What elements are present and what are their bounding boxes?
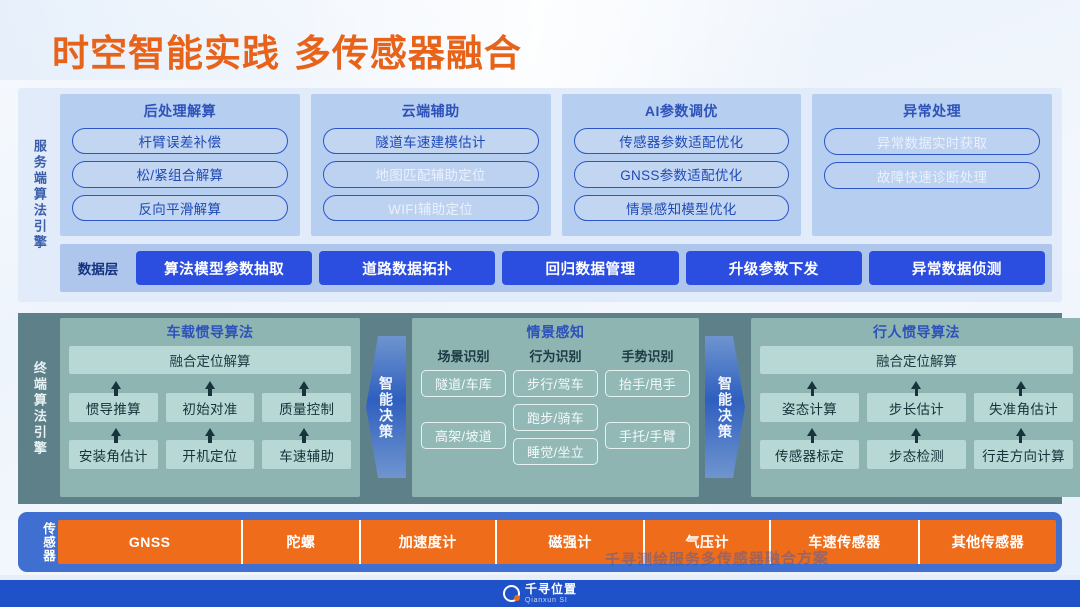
up-arrow-icon xyxy=(111,381,121,389)
up-arrow-icon xyxy=(205,428,215,436)
card-exception-handling[interactable]: 异常处理 异常数据实时获取 故障快速诊断处理 xyxy=(812,94,1052,236)
card-title: 情景感知 xyxy=(421,322,690,342)
sensor-track: GNSS 陀螺 加速度计 磁强计 气压计 车速传感器 其他传感器 xyxy=(58,520,1056,564)
card-title: 行人惯导算法 xyxy=(760,322,1073,342)
up-arrow-icon xyxy=(299,428,309,436)
terminal-algorithm-engine-panel: 终端算法引擎 车载惯导算法 融合定位解算 惯导推算 初始对准 质量控制 安装角 xyxy=(18,313,1062,504)
up-arrow-icon xyxy=(299,381,309,389)
chip-item[interactable]: 步行/驾车 xyxy=(513,370,598,397)
fusion-positioning-bar: 融合定位解算 xyxy=(760,346,1073,374)
chip-item[interactable]: 跑步/骑车 xyxy=(513,404,598,431)
card-vehicle-inertial-algorithm[interactable]: 车载惯导算法 融合定位解算 惯导推算 初始对准 质量控制 安装角估计 开机定位 … xyxy=(60,318,360,497)
sensor-item-accelerometer[interactable]: 加速度计 xyxy=(361,520,497,564)
box-item[interactable]: 车速辅助 xyxy=(262,440,351,469)
data-layer-label: 数据层 xyxy=(67,258,129,278)
box-item[interactable]: 传感器标定 xyxy=(760,440,859,469)
sensor-item-gnss[interactable]: GNSS xyxy=(58,520,243,564)
box-item[interactable]: 步长估计 xyxy=(867,393,966,422)
intelligent-decision-label: 智能决策 xyxy=(376,376,396,440)
card-title: 后处理解算 xyxy=(144,101,217,121)
card-pedestrian-inertial-algorithm[interactable]: 行人惯导算法 融合定位解算 姿态计算 步长估计 失准角估计 传感器标定 步态检测… xyxy=(751,318,1080,497)
pill-item[interactable]: 杆臂误差补偿 xyxy=(72,128,288,154)
column-scene-recognition: 场景识别 隧道/车库 高架/坡道 xyxy=(421,346,506,490)
intelligent-decision-left: 智能决策 xyxy=(360,318,412,497)
arrow-cell xyxy=(864,377,968,393)
fusion-positioning-bar: 融合定位解算 xyxy=(69,346,351,374)
box-item[interactable]: 安装角估计 xyxy=(69,440,158,469)
vehicle-mid-row: 惯导推算 初始对准 质量控制 xyxy=(69,393,351,422)
box-item[interactable]: 行走方向计算 xyxy=(974,440,1073,469)
data-layer-button[interactable]: 算法模型参数抽取 xyxy=(136,251,312,285)
chip-item[interactable]: 高架/坡道 xyxy=(421,422,506,449)
column-title: 场景识别 xyxy=(437,346,489,365)
server-panel-body: 后处理解算 杆臂误差补偿 松/紧组合解算 反向平滑解算 云端辅助 隧道车速建模估… xyxy=(60,88,1062,302)
logo-name-cn: 千寻位置 xyxy=(525,583,577,595)
sensor-item-other[interactable]: 其他传感器 xyxy=(920,520,1056,564)
arrow-cell xyxy=(760,377,864,393)
box-item[interactable]: 步态检测 xyxy=(867,440,966,469)
sensor-item-gyroscope[interactable]: 陀螺 xyxy=(243,520,360,564)
data-layer-button[interactable]: 升级参数下发 xyxy=(686,251,862,285)
up-arrow-icon xyxy=(111,428,121,436)
card-title: 云端辅助 xyxy=(402,101,460,121)
up-arrow-icon xyxy=(911,381,921,389)
card-ai-parameter-tuning[interactable]: AI参数调优 传感器参数适配优化 GNSS参数适配优化 情景感知模型优化 xyxy=(562,94,802,236)
card-title: AI参数调优 xyxy=(645,101,718,121)
sensor-item-speed-sensor[interactable]: 车速传感器 xyxy=(771,520,920,564)
pill-item[interactable]: 故障快速诊断处理 xyxy=(824,162,1040,189)
column-behavior-recognition: 行为识别 步行/驾车 跑步/骑车 睡觉/坐立 xyxy=(513,346,598,490)
pill-item[interactable]: 异常数据实时获取 xyxy=(824,128,1040,155)
box-item[interactable]: 姿态计算 xyxy=(760,393,859,422)
card-title: 车载惯导算法 xyxy=(69,322,351,342)
logo-name-en: Qianxun SI xyxy=(525,597,577,604)
pill-item[interactable]: 隧道车速建模估计 xyxy=(323,128,539,154)
box-item[interactable]: 初始对准 xyxy=(166,393,255,422)
arrow-cell xyxy=(69,377,163,393)
arrow-cell xyxy=(69,424,163,440)
data-layer-button[interactable]: 异常数据侦测 xyxy=(869,251,1045,285)
chip-item[interactable]: 手托/手臂 xyxy=(605,422,690,449)
pill-item[interactable]: GNSS参数适配优化 xyxy=(574,161,790,187)
up-arrow-icon xyxy=(807,381,817,389)
pill-item[interactable]: 情景感知模型优化 xyxy=(574,195,790,221)
arrow-cell xyxy=(969,424,1073,440)
chip-item[interactable]: 隧道/车库 xyxy=(421,370,506,397)
server-cards-row: 后处理解算 杆臂误差补偿 松/紧组合解算 反向平滑解算 云端辅助 隧道车速建模估… xyxy=(60,94,1052,236)
vehicle-bottom-row: 安装角估计 开机定位 车速辅助 xyxy=(69,440,351,469)
terminal-panel-body: 车载惯导算法 融合定位解算 惯导推算 初始对准 质量控制 安装角估计 开机定位 … xyxy=(60,313,1080,504)
terminal-side-label: 终端算法引擎 xyxy=(18,313,60,504)
arrow-row xyxy=(760,424,1073,440)
arrow-row xyxy=(69,377,351,393)
chip-item[interactable]: 抬手/甩手 xyxy=(605,370,690,397)
pedestrian-mid-row: 姿态计算 步长估计 失准角估计 xyxy=(760,393,1073,422)
footer-bar: 千寻位置 Qianxun SI xyxy=(0,580,1080,607)
column-gesture-recognition: 手势识别 抬手/甩手 手托/手臂 xyxy=(605,346,690,490)
sensor-item-magnetometer[interactable]: 磁强计 xyxy=(497,520,646,564)
box-item[interactable]: 开机定位 xyxy=(166,440,255,469)
server-side-label: 服务端算法引擎 xyxy=(18,88,60,302)
brand-logo: 千寻位置 Qianxun SI xyxy=(503,583,577,604)
arrow-row xyxy=(69,424,351,440)
situation-columns: 场景识别 隧道/车库 高架/坡道 行为识别 步行/驾车 跑步/骑车 睡觉/坐立 … xyxy=(421,346,690,490)
up-arrow-icon xyxy=(205,381,215,389)
sensor-layer-panel: 传感器 GNSS 陀螺 加速度计 磁强计 气压计 车速传感器 其他传感器 xyxy=(18,512,1062,572)
card-title: 异常处理 xyxy=(903,101,961,121)
arrow-row xyxy=(760,377,1073,393)
card-cloud-assist[interactable]: 云端辅助 隧道车速建模估计 地图匹配辅助定位 WIFI辅助定位 xyxy=(311,94,551,236)
column-title: 手势识别 xyxy=(621,346,673,365)
pill-item[interactable]: WIFI辅助定位 xyxy=(323,195,539,221)
column-title: 行为识别 xyxy=(529,346,581,365)
intelligent-decision-label: 智能决策 xyxy=(715,376,735,440)
up-arrow-icon xyxy=(911,428,921,436)
data-layer-bar: 数据层 算法模型参数抽取 道路数据拓扑 回归数据管理 升级参数下发 异常数据侦测 xyxy=(60,244,1052,292)
chip-item[interactable]: 睡觉/坐立 xyxy=(513,438,598,465)
pedestrian-bottom-row: 传感器标定 步态检测 行走方向计算 xyxy=(760,440,1073,469)
box-item[interactable]: 质量控制 xyxy=(262,393,351,422)
pill-item[interactable]: 反向平滑解算 xyxy=(72,195,288,221)
arrow-cell xyxy=(257,377,351,393)
pill-item[interactable]: 传感器参数适配优化 xyxy=(574,128,790,154)
arrow-cell xyxy=(969,377,1073,393)
arrow-cell xyxy=(257,424,351,440)
arrow-cell xyxy=(864,424,968,440)
up-arrow-icon xyxy=(1016,428,1026,436)
arrow-cell xyxy=(760,424,864,440)
box-item[interactable]: 失准角估计 xyxy=(974,393,1073,422)
qianxun-logo-icon xyxy=(503,585,520,602)
pill-item[interactable]: 地图匹配辅助定位 xyxy=(323,161,539,187)
intelligent-decision-right: 智能决策 xyxy=(699,318,751,497)
up-arrow-icon xyxy=(1016,381,1026,389)
data-layer-button[interactable]: 道路数据拓扑 xyxy=(319,251,495,285)
sensor-side-label: 传感器 xyxy=(24,522,58,563)
pill-item[interactable]: 松/紧组合解算 xyxy=(72,161,288,187)
data-layer-button[interactable]: 回归数据管理 xyxy=(502,251,678,285)
card-situational-awareness[interactable]: 情景感知 场景识别 隧道/车库 高架/坡道 行为识别 步行/驾车 跑步/骑车 睡… xyxy=(412,318,699,497)
sensor-item-barometer[interactable]: 气压计 xyxy=(645,520,771,564)
box-item[interactable]: 惯导推算 xyxy=(69,393,158,422)
card-post-processing[interactable]: 后处理解算 杆臂误差补偿 松/紧组合解算 反向平滑解算 xyxy=(60,94,300,236)
arrow-cell xyxy=(163,424,257,440)
logo-text-block: 千寻位置 Qianxun SI xyxy=(525,583,577,604)
arrow-cell xyxy=(163,377,257,393)
up-arrow-icon xyxy=(807,428,817,436)
page-title: 时空智能实践 多传感器融合 xyxy=(52,23,522,77)
server-algorithm-engine-panel: 服务端算法引擎 后处理解算 杆臂误差补偿 松/紧组合解算 反向平滑解算 云端辅助… xyxy=(18,88,1062,302)
